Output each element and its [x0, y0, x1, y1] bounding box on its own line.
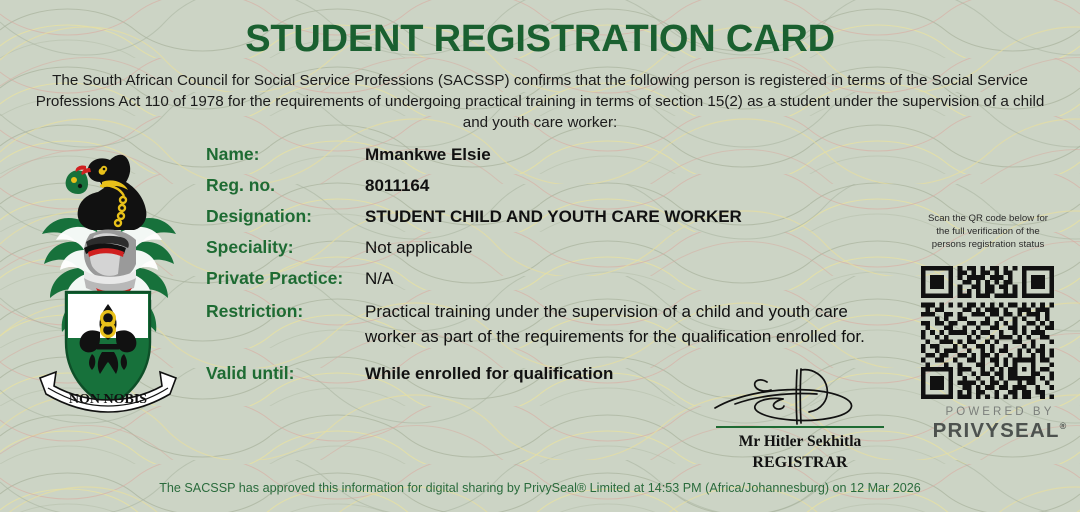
arms-motto: NON NOBIS: [69, 392, 147, 407]
student-registration-card: STUDENT REGISTRATION CARD The South Afri…: [0, 0, 1080, 512]
field-row-restriction: Restriction: Practical training under th…: [206, 299, 906, 349]
registrar-name: Mr Hitler Sekhitla: [700, 431, 900, 452]
value-name: Mmankwe Elsie: [365, 144, 491, 166]
qr-instruction-text: Scan the QR code below for the full veri…: [900, 212, 1076, 251]
signature-block: Mr Hitler Sekhitla REGISTRAR: [700, 368, 900, 473]
label-valid-until: Valid until:: [206, 363, 365, 384]
field-row-speciality: Speciality: Not applicable: [206, 237, 906, 259]
page-title: STUDENT REGISTRATION CARD: [0, 18, 1080, 61]
value-valid-until: While enrolled for qualification: [365, 363, 613, 385]
intro-paragraph: The South African Council for Social Ser…: [30, 70, 1050, 133]
registrar-title: REGISTRAR: [700, 452, 900, 473]
trademark-symbol: ®: [1060, 421, 1068, 431]
value-restriction: Practical training under the supervision…: [365, 299, 895, 349]
label-speciality: Speciality:: [206, 237, 365, 258]
approval-footer: The SACSSP has approved this information…: [0, 481, 1080, 495]
label-restriction: Restriction:: [206, 301, 365, 322]
qr-note-line-2: the full verification of the: [900, 225, 1076, 238]
label-private-practice: Private Practice:: [206, 268, 365, 289]
label-name: Name:: [206, 144, 365, 165]
field-row-reg-no: Reg. no. 8011164: [206, 175, 906, 197]
privyseal-name: PRIVYSEAL: [933, 419, 1060, 442]
sacssp-coat-of-arms-icon: NON NOBIS: [18, 142, 198, 414]
privyseal-wordmark: PRIVYSEAL®: [920, 419, 1080, 443]
qr-note-line-1: Scan the QR code below for: [900, 212, 1076, 225]
value-designation: STUDENT CHILD AND YOUTH CARE WORKER: [365, 206, 742, 228]
powered-by-label: POWERED BY: [920, 406, 1080, 418]
privyseal-brand: POWERED BY PRIVYSEAL®: [920, 406, 1080, 443]
value-reg-no: 8011164: [365, 175, 429, 197]
qr-code-icon[interactable]: [921, 266, 1054, 399]
field-row-name: Name: Mmankwe Elsie: [206, 144, 906, 166]
field-row-designation: Designation: STUDENT CHILD AND YOUTH CAR…: [206, 206, 906, 228]
label-designation: Designation:: [206, 206, 365, 227]
label-reg-no: Reg. no.: [206, 175, 365, 196]
registration-details: Name: Mmankwe Elsie Reg. no. 8011164 Des…: [206, 144, 906, 394]
handwritten-signature-icon: [705, 368, 895, 426]
value-private-practice: N/A: [365, 268, 393, 290]
signature-rule: [716, 426, 884, 428]
qr-note-line-3: persons registration status: [900, 238, 1076, 251]
value-speciality: Not applicable: [365, 237, 473, 259]
field-row-private-practice: Private Practice: N/A: [206, 268, 906, 290]
